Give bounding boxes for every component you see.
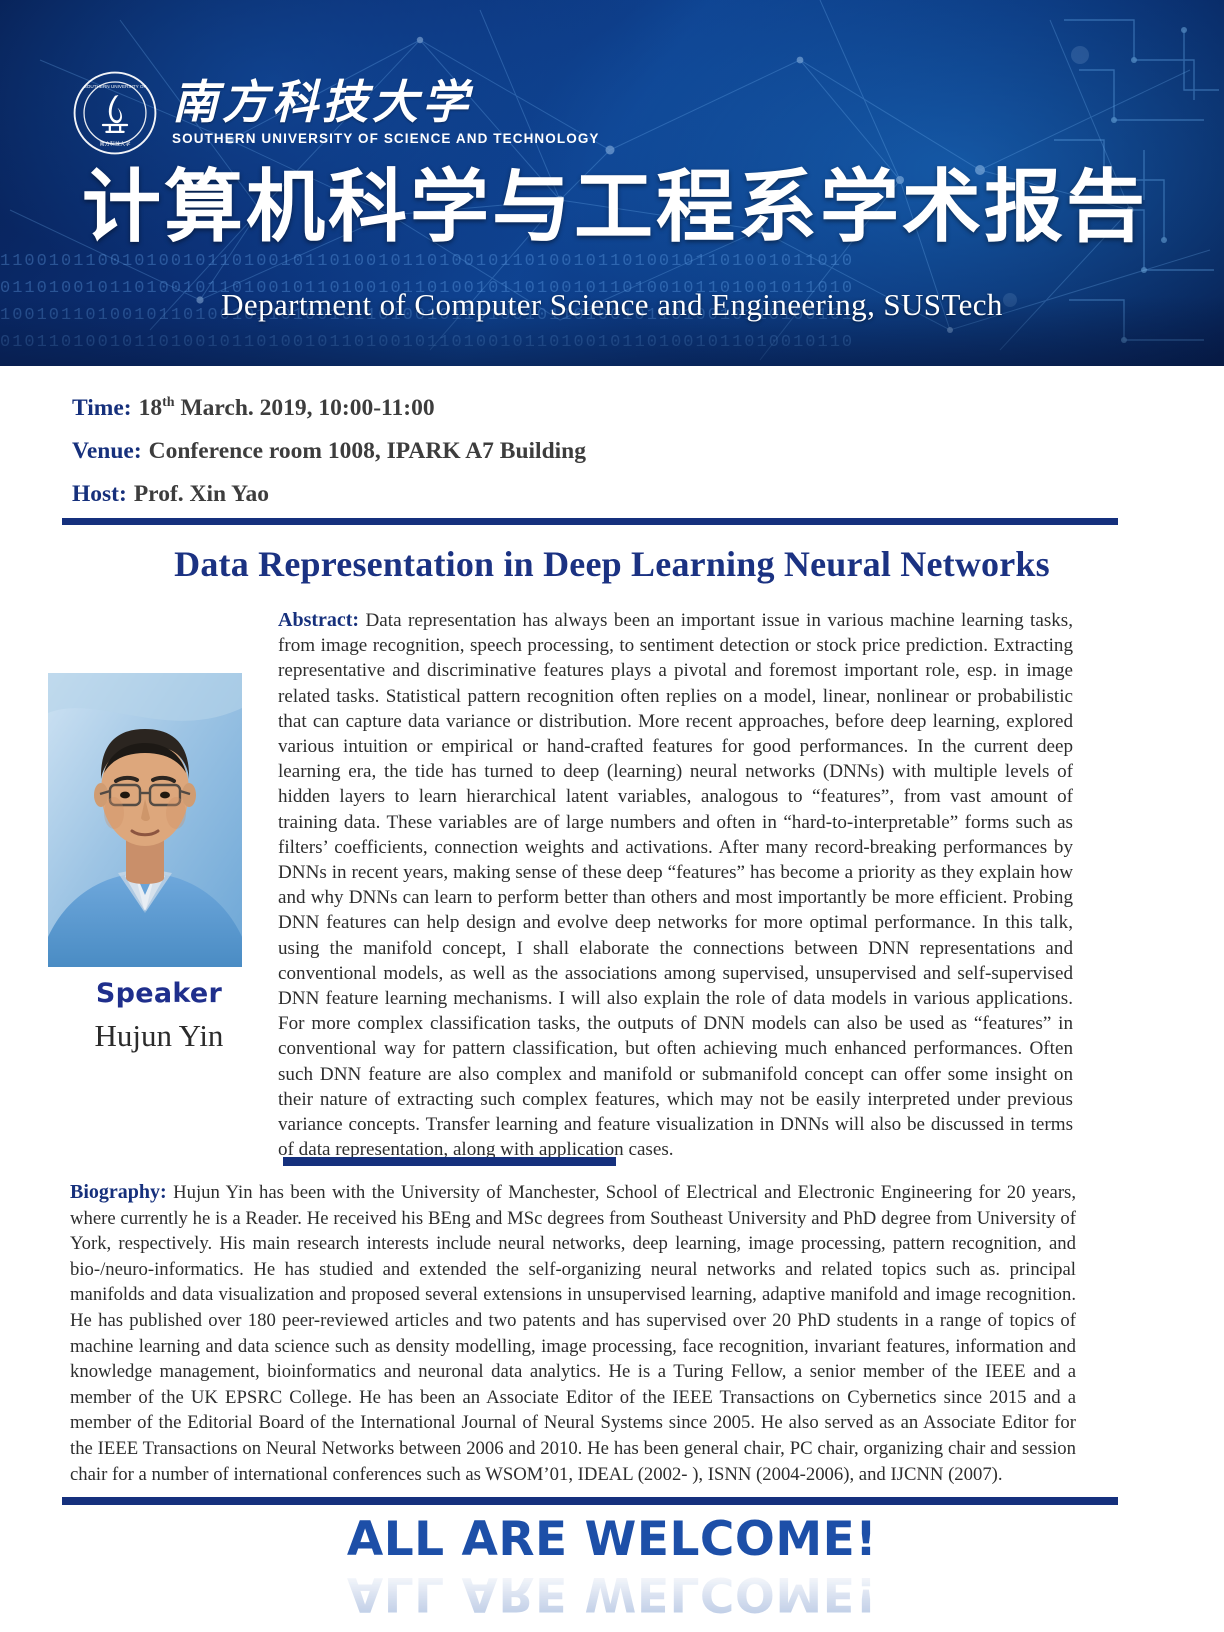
divider-top — [62, 518, 1118, 525]
divider-bottom — [62, 1497, 1118, 1505]
biography-body: Hujun Yin has been with the University o… — [70, 1182, 1076, 1485]
speaker-name: Hujun Yin — [48, 1018, 270, 1054]
host-label: Host: — [72, 481, 127, 507]
svg-text:SOUTHERN UNIVERSITY OF: SOUTHERN UNIVERSITY OF — [84, 84, 147, 89]
speaker-role-label: Speaker — [48, 978, 270, 1009]
banner-subtitle-english: Department of Computer Science and Engin… — [0, 287, 1224, 323]
venue-value: Conference room 1008, IPARK A7 Building — [149, 438, 586, 464]
banner-title-chinese: 计算机科学与工程系学术报告 — [82, 168, 1142, 247]
sustech-seal-icon: SOUTHERN UNIVERSITY OF 南方科技大学 — [72, 70, 158, 156]
logo-chinese-name: 南方科技大学 — [172, 80, 600, 127]
biography-label: Biography: — [70, 1181, 167, 1203]
event-details: Time:18th March. 2019, 10:00-11:00 Venue… — [72, 381, 872, 516]
detail-host: Host:Prof. Xin Yao — [72, 473, 872, 516]
welcome-message: ALL ARE WELCOME! — [0, 1512, 1224, 1567]
speaker-photo — [48, 673, 242, 967]
detail-venue: Venue:Conference room 1008, IPARK A7 Bui… — [72, 430, 872, 473]
time-value: 18th March. 2019, 10:00-11:00 — [139, 395, 435, 421]
abstract-label: Abstract: — [278, 609, 359, 631]
abstract-body: Data representation has always been an i… — [278, 610, 1073, 1160]
talk-title: Data Representation in Deep Learning Neu… — [0, 543, 1224, 585]
biography-section: Biography: Hujun Yin has been with the U… — [70, 1180, 1076, 1487]
university-logo: SOUTHERN UNIVERSITY OF 南方科技大学 南方科技大学 SOU… — [72, 70, 600, 156]
abstract-section: Abstract: Data representation has always… — [278, 608, 1073, 1162]
detail-time: Time:18th March. 2019, 10:00-11:00 — [72, 381, 872, 430]
svg-text:南方科技大学: 南方科技大学 — [100, 140, 131, 148]
time-label: Time: — [72, 395, 132, 421]
header-banner: 1100101100101001011010010110100101101001… — [0, 0, 1224, 366]
welcome-message-reflection: ALL ARE WELCOME! — [0, 1566, 1224, 1621]
logo-english-name: SOUTHERN UNIVERSITY OF SCIENCE AND TECHN… — [172, 131, 600, 146]
speaker-portrait-graphic — [48, 673, 242, 967]
venue-label: Venue: — [72, 438, 142, 464]
divider-middle — [283, 1157, 616, 1166]
host-value: Prof. Xin Yao — [134, 481, 269, 507]
